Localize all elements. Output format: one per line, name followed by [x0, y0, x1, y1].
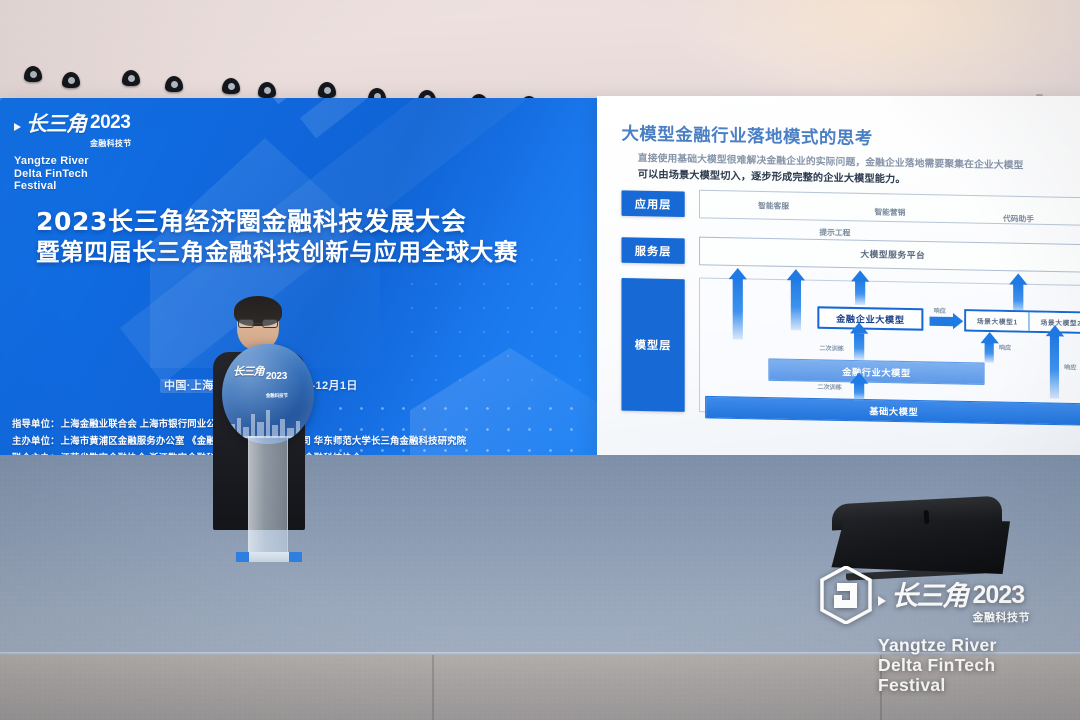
watermark-sub-cn: 金融科技节: [973, 612, 1031, 624]
logo-subtitle-cn: 金融科技节: [90, 139, 132, 148]
model-box-industry: 金融行业大模型: [768, 358, 984, 385]
hexagon-logo-icon: [820, 566, 872, 624]
feed-arrow-shaft: [855, 280, 865, 305]
feed-arrow-head: [729, 268, 747, 280]
podium-front-panel: 长三角 2023 金融科技节: [222, 344, 314, 444]
projection-screen: 大模型金融行业落地模式的思考 直接使用基础大模型很难解决金融企业的实际问题，金融…: [597, 96, 1080, 464]
podium-base-accent-left: [236, 552, 249, 562]
sponsor-key: 主办单位：: [12, 435, 60, 446]
podium-base-accent-right: [289, 552, 302, 562]
model-box-scene-1: 场景大模型1: [966, 311, 1029, 331]
app-cell-customer-service: 智能客服: [758, 200, 789, 212]
retrain-arrow-head: [850, 322, 868, 334]
app-cell-marketing: 智能营销: [874, 206, 905, 218]
layer-label-model: 模型层: [621, 278, 684, 412]
feed-arrow-shaft: [791, 279, 801, 330]
stage-photo-scene: 长三角 2023 金融科技节 Yangtze River Delta FinTe…: [0, 0, 1080, 720]
slide-title: 大模型金融行业落地模式的思考: [621, 119, 872, 149]
logo-arrow-icon: [14, 123, 21, 131]
backdrop-festival-logo: 长三角 2023 金融科技节 Yangtze River Delta FinTe…: [14, 114, 174, 193]
respond-caption: 响应: [934, 305, 946, 314]
retrain-caption: 二次训练: [817, 382, 841, 392]
par-light-icon: [258, 82, 276, 98]
par-light-icon: [165, 76, 183, 92]
par-light-icon: [222, 78, 240, 94]
watermark-en-line-2: Delta FinTech: [878, 655, 1068, 675]
presentation-slide: 大模型金融行业落地模式的思考 直接使用基础大模型很难解决金融企业的实际问题，金融…: [597, 96, 1080, 464]
par-light-icon: [62, 72, 80, 88]
respond-arrow-head: [953, 313, 963, 330]
feed-arrow-head: [787, 269, 805, 281]
retrain-arrow-shaft: [854, 333, 864, 360]
respond-arrow-shaft: [985, 342, 994, 363]
layer-label-service: 服务层: [621, 237, 684, 264]
respond-caption: 响应: [1064, 362, 1076, 371]
podium-logo-cn: 长三角: [233, 366, 264, 377]
par-light-icon: [24, 66, 42, 82]
watermark-en-line-3: Festival: [878, 675, 1068, 695]
par-light-icon: [318, 82, 336, 98]
logo-year: 2023: [90, 112, 130, 133]
podium-skyline-graphic: [228, 398, 308, 438]
event-title-line-2: 暨第四届长三角金融科技创新与应用全球大赛: [36, 237, 566, 268]
speaking-podium: 长三角 2023 金融科技节: [222, 344, 314, 570]
watermark-text-block: 长三角 2023 金融科技节 Yangtze River Delta FinTe…: [878, 584, 1068, 695]
backdrop-dot-grid: [400, 248, 600, 398]
respond-arrow-head: [981, 332, 999, 344]
backdrop-streak: [300, 98, 600, 138]
prompt-engineering-note: 提示工程: [819, 227, 850, 239]
monitor-handle: [924, 510, 930, 524]
backdrop-streak: [250, 98, 600, 104]
event-title-line-1: 2023长三角经济圈金融科技发展大会: [36, 206, 566, 237]
backdrop-event-title: 2023长三角经济圈金融科技发展大会 暨第四届长三角金融科技创新与应用全球大赛: [36, 206, 566, 268]
floor-tile-seam: [432, 655, 434, 720]
watermark-year: 2023: [973, 581, 1025, 609]
retrain-arrow-head: [850, 372, 868, 384]
podium-festival-logo: 长三角 2023 金融科技节: [233, 366, 307, 402]
watermark-cn-name: 长三角: [891, 584, 968, 610]
respond-caption: 响应: [999, 342, 1011, 351]
respond-arrow-shaft: [1050, 335, 1059, 398]
par-light-icon: [122, 70, 140, 86]
retrain-arrow-shaft: [854, 382, 864, 401]
feed-arrow-head: [1009, 273, 1027, 285]
respond-arrow-shaft: [930, 317, 954, 327]
app-cell-code-assistant: 代码助手: [1003, 213, 1034, 225]
sponsor-key: 指导单位：: [12, 418, 60, 429]
respond-arrow-head: [1046, 325, 1064, 337]
logo-en-line-2: Delta FinTech: [14, 168, 174, 181]
layer-label-application: 应用层: [621, 190, 684, 217]
logo-en-line-3: Festival: [14, 180, 174, 193]
speaker-glasses-icon: [238, 319, 278, 328]
podium-stem: [248, 436, 288, 554]
logo-chinese-name: 长三角: [26, 114, 86, 134]
feed-arrow-head: [851, 270, 869, 282]
watermark-arrow-icon: [878, 596, 886, 606]
service-layer-box: 大模型服务平台: [699, 237, 1080, 273]
festival-watermark: 长三角 2023 金融科技节 Yangtze River Delta FinTe…: [812, 566, 1062, 706]
feed-arrow-shaft: [733, 278, 743, 339]
logo-en-line-1: Yangtze River: [14, 155, 174, 168]
retrain-caption: 二次训练: [819, 343, 843, 353]
watermark-en-line-1: Yangtze River: [878, 635, 1068, 655]
model-box-enterprise: 金融企业大模型: [817, 306, 923, 330]
podium-logo-year: 2023: [266, 371, 287, 382]
